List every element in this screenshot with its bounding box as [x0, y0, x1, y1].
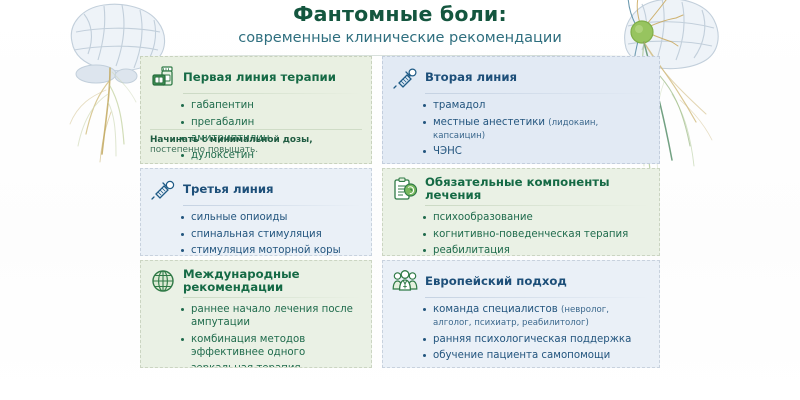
- bullet-text: местные анестетики: [433, 117, 548, 128]
- bullet-text: когнитивно-поведенческая терапия: [433, 229, 628, 240]
- infographic-root: Фантомные боли: современные клинические …: [0, 0, 800, 400]
- list-item: обучение пациента самопомощи: [422, 349, 650, 362]
- card-header: Вторая линия: [392, 64, 650, 90]
- card-european-approach[interactable]: Европейский подход команда специалистов …: [382, 260, 660, 368]
- card-header-divider: [183, 93, 362, 94]
- list-item: местные анестетики (лидокаин, капсаицин): [422, 116, 650, 142]
- list-item: габапентин: [180, 99, 362, 112]
- list-item: когнитивно-поведенческая терапия: [422, 228, 650, 241]
- card-header: Европейский подход: [392, 268, 650, 294]
- bullet-text: габапентин: [191, 100, 254, 111]
- list-item: трамадол: [422, 99, 650, 112]
- card-third-line[interactable]: Третья линия сильные опиоиды спинальная …: [140, 168, 372, 256]
- card-header-divider: [183, 205, 362, 206]
- list-item: реабилитация: [422, 244, 650, 256]
- card-bullet-list: сильные опиоиды спинальная стимуляция ст…: [180, 211, 362, 256]
- bullet-text: команда специалистов: [433, 304, 561, 315]
- cards-grid: Первая линия терапии габапентин прегабал…: [140, 56, 660, 368]
- list-item: раннее начало лечения после ампутации: [180, 303, 362, 329]
- list-item: психообразование: [422, 211, 650, 224]
- list-item: зеркальная терапия: [422, 162, 650, 164]
- footer-strong-text: Начинать с минимальной дозы,: [150, 135, 313, 145]
- card-header: Третья линия: [150, 176, 362, 202]
- syringe-icon: [392, 64, 418, 90]
- page-title: Фантомные боли:: [150, 2, 650, 26]
- card-bullet-list: трамадол местные анестетики (лидокаин, к…: [422, 99, 650, 164]
- bullet-text: раннее начало лечения после ампутации: [191, 304, 353, 328]
- card-bullet-list: раннее начало лечения после ампутации ко…: [180, 303, 362, 368]
- bullet-text: ЧЭНС: [433, 146, 462, 157]
- card-title: Вторая линия: [425, 71, 517, 84]
- bullet-text: прегабалин: [191, 117, 254, 128]
- card-mandatory-components[interactable]: Обязательные компоненты лечения психообр…: [382, 168, 660, 256]
- list-item: команда специалистов (невролог, алголог,…: [422, 303, 650, 329]
- syringe-icon: [150, 176, 176, 202]
- footer-rest-text: постепенно повышать.: [150, 145, 258, 155]
- bullet-text: зеркальная терапия — безопасный метод пе…: [191, 363, 333, 368]
- list-item: ранняя психологическая поддержка: [422, 333, 650, 346]
- card-header: Международные рекомендации: [150, 268, 362, 294]
- card-international-recommendations[interactable]: Международные рекомендации раннее начало…: [140, 260, 372, 368]
- card-footer-note: Начинать с минимальной дозы, постепенно …: [150, 129, 362, 156]
- bullet-text: реабилитация: [433, 245, 510, 256]
- card-first-line[interactable]: Первая линия терапии габапентин прегабал…: [140, 56, 372, 164]
- card-header: Обязательные компоненты лечения: [392, 176, 650, 202]
- card-bullet-list: команда специалистов (невролог, алголог,…: [422, 303, 650, 362]
- header: Фантомные боли: современные клинические …: [150, 2, 650, 56]
- card-title: Международные рекомендации: [183, 268, 362, 294]
- list-item: спинальная стимуляция: [180, 228, 362, 241]
- card-bullet-list: психообразование когнитивно-поведенческа…: [422, 211, 650, 256]
- bullet-text: комбинация методов эффективнее одного: [191, 334, 305, 358]
- card-title: Обязательные компоненты лечения: [425, 176, 650, 202]
- bullet-text: обучение пациента самопомощи: [433, 350, 610, 361]
- bullet-text: психообразование: [433, 212, 533, 223]
- card-title: Первая линия терапии: [183, 71, 336, 84]
- card-header-divider: [425, 205, 650, 206]
- pill-bottle-icon: [150, 64, 176, 90]
- page-subtitle: современные клинические рекомендации: [150, 30, 650, 47]
- card-title: Европейский подход: [425, 275, 567, 288]
- list-item: зеркальная терапия — безопасный метод пе…: [180, 362, 362, 368]
- list-item: прегабалин: [180, 116, 362, 129]
- card-header-divider: [425, 297, 650, 298]
- bullet-text: стимуляция моторной коры: [191, 245, 341, 256]
- globe-icon: [150, 268, 176, 294]
- bullet-text: ранняя психологическая поддержка: [433, 334, 631, 345]
- medical-team-icon: [392, 268, 418, 294]
- bullet-text: трамадол: [433, 100, 485, 111]
- bullet-text: зеркальная терапия: [433, 163, 543, 164]
- list-item: стимуляция моторной коры: [180, 244, 362, 256]
- list-item: комбинация методов эффективнее одного: [180, 333, 362, 359]
- card-title: Третья линия: [183, 183, 274, 196]
- bullet-text: спинальная стимуляция: [191, 229, 322, 240]
- list-item: сильные опиоиды: [180, 211, 362, 224]
- list-item: ЧЭНС: [422, 145, 650, 158]
- card-header: Первая линия терапии: [150, 64, 362, 90]
- card-header-divider: [183, 297, 362, 298]
- card-header-divider: [425, 93, 650, 94]
- bullet-text: сильные опиоиды: [191, 212, 287, 223]
- clipboard-head-icon: [392, 176, 418, 202]
- card-second-line[interactable]: Вторая линия трамадол местные анестетики…: [382, 56, 660, 164]
